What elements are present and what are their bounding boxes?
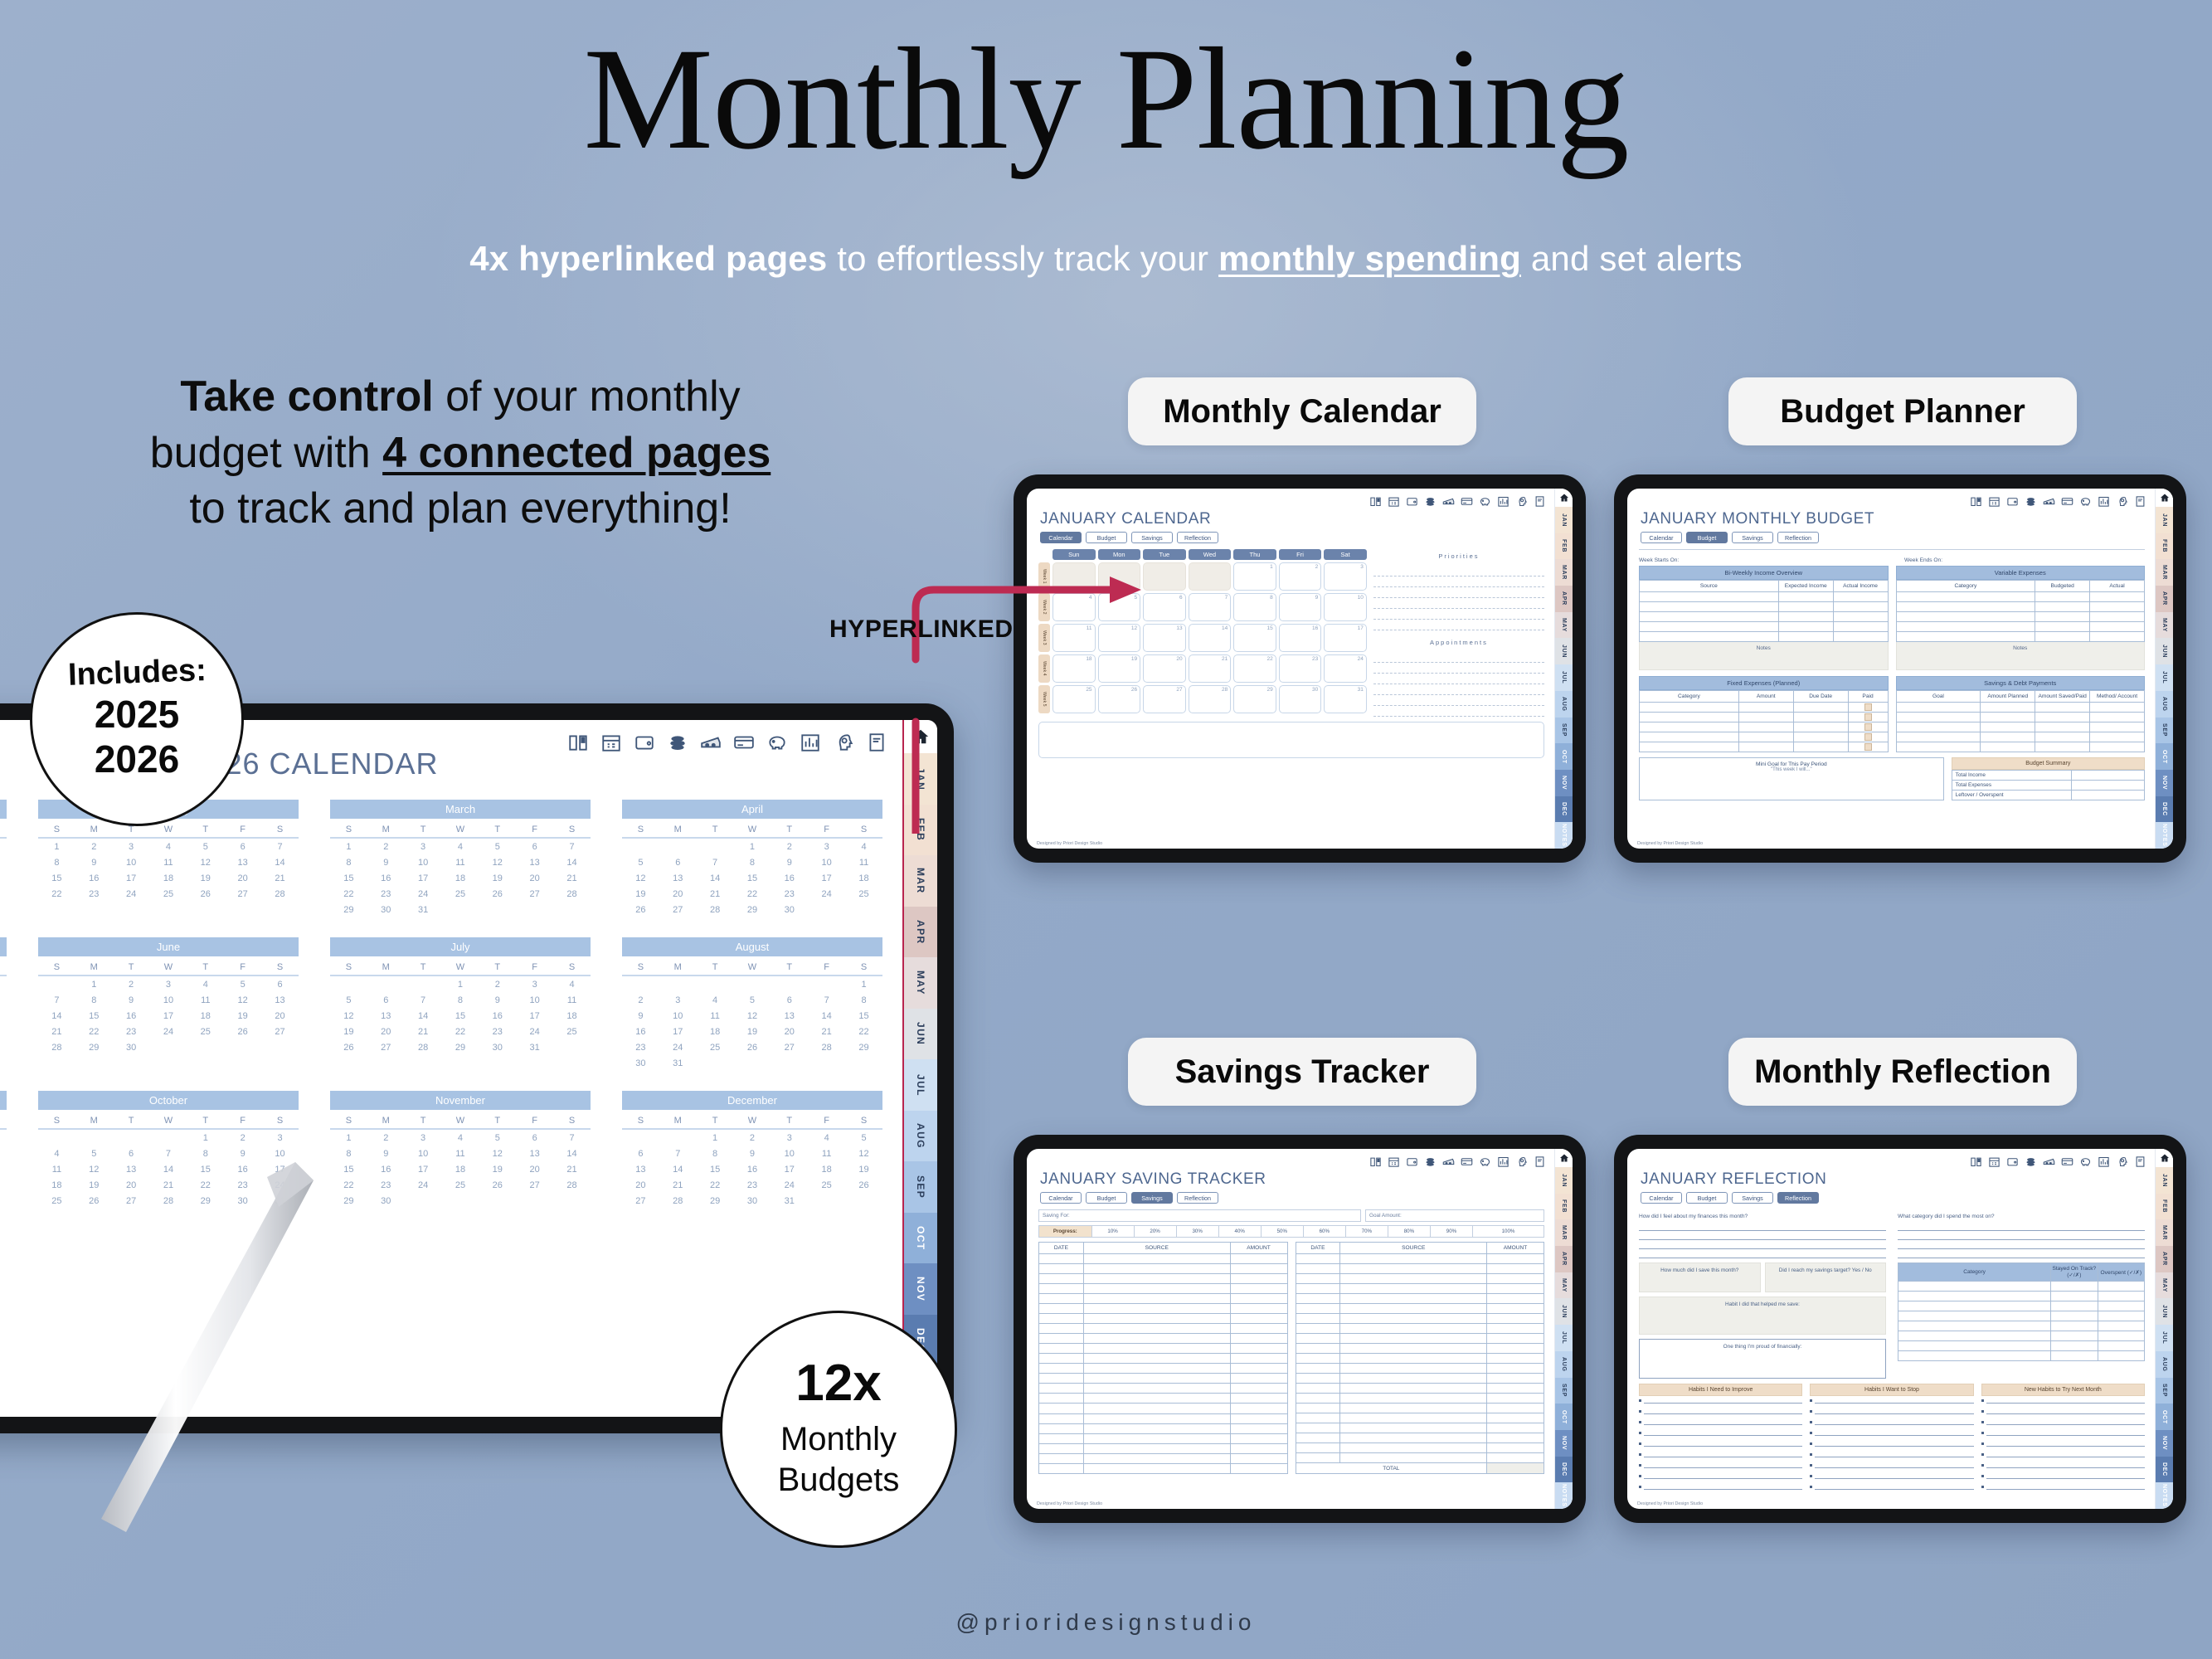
- habit-line[interactable]: [1981, 1428, 2145, 1436]
- table-row[interactable]: [1039, 1384, 1288, 1394]
- month-day[interactable]: 10: [0, 854, 7, 870]
- month-day[interactable]: 22: [330, 1177, 367, 1193]
- calendar-icon[interactable]: [1388, 495, 1400, 508]
- month-tab-oct[interactable]: OCT: [2156, 1404, 2173, 1430]
- month-day[interactable]: 18: [187, 1008, 224, 1024]
- table-row[interactable]: [1296, 1284, 1544, 1294]
- table-cell[interactable]: [1898, 1351, 2051, 1361]
- chart-icon[interactable]: [1497, 495, 1510, 508]
- table-cell[interactable]: [1039, 1264, 1084, 1274]
- table-cell[interactable]: [1340, 1264, 1487, 1274]
- box-savings-target[interactable]: Did I reach my savings target? Yes / No: [1765, 1262, 1887, 1292]
- month-day[interactable]: [367, 975, 405, 992]
- subtab-calendar[interactable]: Calendar: [1040, 1192, 1082, 1204]
- table-row[interactable]: [1296, 1413, 1544, 1423]
- table-cell[interactable]: [1340, 1304, 1487, 1314]
- month-day[interactable]: 28: [405, 1039, 442, 1055]
- table-cell[interactable]: [1738, 732, 1793, 742]
- month-day[interactable]: 28: [261, 886, 299, 902]
- coins-icon[interactable]: [1424, 1155, 1437, 1168]
- month-card-october[interactable]: OctoberSMTWTFS12345678910111213141516171…: [38, 1091, 299, 1209]
- month-day[interactable]: 10: [516, 992, 553, 1008]
- table-row[interactable]: [1296, 1364, 1544, 1374]
- subtab-budget[interactable]: Budget: [1086, 1192, 1127, 1204]
- month-day[interactable]: 1: [75, 975, 113, 992]
- table-cell[interactable]: [1833, 592, 1888, 602]
- table-cell[interactable]: [1083, 1254, 1230, 1264]
- table-cell[interactable]: [1230, 1304, 1287, 1314]
- table-row[interactable]: [1039, 1404, 1288, 1413]
- month-day[interactable]: 12: [330, 1008, 367, 1024]
- habit-line[interactable]: [1981, 1450, 2145, 1457]
- month-day[interactable]: 28: [808, 1039, 845, 1055]
- month-day[interactable]: 8: [734, 854, 771, 870]
- month-day[interactable]: 19: [0, 1161, 7, 1177]
- month-day[interactable]: 23: [0, 1024, 7, 1039]
- table-cell[interactable]: [1296, 1394, 1340, 1404]
- write-line[interactable]: [1898, 1222, 2145, 1231]
- write-line[interactable]: [1373, 587, 1544, 598]
- table-cell[interactable]: [1896, 713, 1981, 722]
- month-tab-jul[interactable]: JUL: [1555, 664, 1573, 691]
- month-day[interactable]: 22: [697, 1177, 734, 1193]
- box-helpful-habit[interactable]: Habit I did that helped me save:: [1639, 1297, 1886, 1335]
- month-tab-aug[interactable]: AUG: [2156, 691, 2173, 718]
- habit-line[interactable]: [1639, 1461, 1802, 1468]
- subtab-budget[interactable]: Budget: [1686, 1192, 1728, 1204]
- month-day[interactable]: 20: [659, 886, 697, 902]
- wallet-icon[interactable]: [2006, 1155, 2019, 1168]
- subtab-budget[interactable]: Budget: [1086, 532, 1127, 543]
- table-cell[interactable]: [2051, 1341, 2098, 1351]
- month-day[interactable]: 23: [771, 886, 808, 902]
- table-cell[interactable]: [2090, 632, 2145, 642]
- month-tab-apr[interactable]: APR: [904, 907, 937, 958]
- month-day[interactable]: 12: [75, 1161, 113, 1177]
- table-cell[interactable]: [1039, 1354, 1084, 1364]
- table-cell[interactable]: [1848, 713, 1888, 722]
- month-day[interactable]: 12: [734, 1008, 771, 1024]
- month-day[interactable]: 22: [330, 886, 367, 902]
- table-row[interactable]: [1296, 1423, 1544, 1433]
- book-icon[interactable]: [1369, 1155, 1382, 1168]
- table-row[interactable]: [1039, 1374, 1288, 1384]
- table-cell[interactable]: [1793, 742, 1848, 752]
- month-day[interactable]: 7: [553, 1129, 591, 1146]
- month-tab-jun[interactable]: JUN: [1555, 1298, 1573, 1325]
- month-day[interactable]: 2: [113, 975, 150, 992]
- habit-line[interactable]: [1981, 1407, 2145, 1414]
- table-cell[interactable]: [1487, 1443, 1544, 1453]
- month-day[interactable]: [442, 1193, 479, 1209]
- habit-line[interactable]: [1810, 1407, 1973, 1414]
- month-day[interactable]: 1: [187, 1129, 224, 1146]
- table-cell[interactable]: [1083, 1394, 1230, 1404]
- table-cell[interactable]: [2090, 622, 2145, 632]
- write-line[interactable]: [1639, 1231, 1886, 1240]
- table-row[interactable]: [1296, 1354, 1544, 1364]
- table-cell[interactable]: [1296, 1413, 1340, 1423]
- table-cell[interactable]: [2090, 732, 2145, 742]
- calendar-icon[interactable]: [1988, 495, 2001, 508]
- month-day[interactable]: 26: [845, 1177, 882, 1193]
- table-row[interactable]: [1039, 1334, 1288, 1344]
- table-cell[interactable]: [1981, 713, 2035, 722]
- month-day[interactable]: 7: [553, 838, 591, 854]
- month-day[interactable]: 31: [0, 902, 7, 917]
- calendar-day-cell[interactable]: 30: [1279, 685, 1322, 713]
- table-cell[interactable]: [1778, 632, 1833, 642]
- table-cell[interactable]: [1296, 1324, 1340, 1334]
- month-day[interactable]: 14: [261, 854, 299, 870]
- month-day[interactable]: 9: [734, 1146, 771, 1161]
- table-cell[interactable]: [1230, 1364, 1287, 1374]
- table-cell[interactable]: [2035, 703, 2090, 713]
- month-day[interactable]: 20: [771, 1024, 808, 1039]
- month-day[interactable]: 5: [622, 854, 659, 870]
- month-day[interactable]: 20: [224, 870, 261, 886]
- month-day[interactable]: 30: [224, 1193, 261, 1209]
- month-tab-notes[interactable]: NOTES: [2156, 1482, 2173, 1509]
- subtab-calendar[interactable]: Calendar: [1040, 532, 1082, 543]
- month-day[interactable]: 18: [697, 1024, 734, 1039]
- month-day[interactable]: 11: [38, 1161, 75, 1177]
- table-row[interactable]: [1296, 1264, 1544, 1274]
- table-cell[interactable]: [1896, 742, 1981, 752]
- month-day[interactable]: 2: [0, 975, 7, 992]
- table-row[interactable]: [1640, 622, 1889, 632]
- month-day[interactable]: 29: [330, 1193, 367, 1209]
- month-day[interactable]: 10: [150, 992, 187, 1008]
- table-cell[interactable]: [1296, 1453, 1340, 1463]
- table-cell[interactable]: [2098, 1311, 2144, 1321]
- chart-icon[interactable]: [800, 732, 821, 753]
- month-day[interactable]: 5: [734, 992, 771, 1008]
- month-tab-feb[interactable]: FEB: [1555, 533, 1573, 560]
- month-day[interactable]: 3: [405, 1129, 442, 1146]
- table-cell[interactable]: [1083, 1404, 1230, 1413]
- month-day[interactable]: 1: [38, 838, 75, 854]
- month-day[interactable]: [622, 975, 659, 992]
- table-row[interactable]: [1039, 1394, 1288, 1404]
- chart-icon[interactable]: [1497, 1155, 1510, 1168]
- table-cell[interactable]: [1083, 1354, 1230, 1364]
- mind-icon[interactable]: [1515, 1155, 1528, 1168]
- table-cell[interactable]: [2051, 1331, 2098, 1341]
- table-cell[interactable]: [1296, 1443, 1340, 1453]
- month-day[interactable]: 13: [516, 854, 553, 870]
- write-line[interactable]: [1373, 684, 1544, 695]
- month-day[interactable]: 16: [113, 1008, 150, 1024]
- table-cell[interactable]: [2090, 602, 2145, 612]
- month-day[interactable]: [75, 1129, 113, 1146]
- month-day[interactable]: 10: [659, 1008, 697, 1024]
- month-day[interactable]: 25: [442, 886, 479, 902]
- table-cell[interactable]: [1230, 1463, 1287, 1473]
- month-day[interactable]: [553, 1193, 591, 1209]
- month-day[interactable]: 26: [734, 1039, 771, 1055]
- table-row[interactable]: [1296, 1324, 1544, 1334]
- calendar-icon[interactable]: [600, 732, 622, 753]
- table-cell[interactable]: [2090, 592, 2145, 602]
- month-day[interactable]: [734, 1055, 771, 1071]
- table-cell[interactable]: [1083, 1453, 1230, 1463]
- month-day[interactable]: [771, 1055, 808, 1071]
- table-row[interactable]: [1039, 1453, 1288, 1463]
- month-day[interactable]: 18: [553, 1008, 591, 1024]
- table-cell[interactable]: [1640, 703, 1739, 713]
- table-cell[interactable]: [2090, 713, 2145, 722]
- table-row[interactable]: [1296, 1314, 1544, 1324]
- mind-icon[interactable]: [1515, 495, 1528, 508]
- progress-step-70%[interactable]: 70%: [1346, 1226, 1388, 1237]
- table-row[interactable]: [1896, 722, 2145, 732]
- table-row[interactable]: [1039, 1344, 1288, 1354]
- table-cell[interactable]: [2035, 602, 2090, 612]
- calendar-day-cell[interactable]: 14: [1189, 624, 1232, 652]
- month-tab-dec[interactable]: DEC: [2156, 796, 2173, 823]
- progress-step-50%[interactable]: 50%: [1262, 1226, 1304, 1237]
- table-row[interactable]: [1296, 1394, 1544, 1404]
- table-row[interactable]: [1039, 1354, 1288, 1364]
- month-day[interactable]: 26: [479, 1177, 516, 1193]
- month-day[interactable]: 5: [479, 838, 516, 854]
- habit-line[interactable]: [1639, 1428, 1802, 1436]
- paid-checkbox[interactable]: [1864, 703, 1872, 711]
- month-tab-apr[interactable]: APR: [1555, 586, 1573, 612]
- table-cell[interactable]: [2090, 742, 2145, 752]
- write-line[interactable]: [1373, 663, 1544, 674]
- month-day[interactable]: 18: [38, 1177, 75, 1193]
- month-day[interactable]: 19: [330, 1024, 367, 1039]
- calendar-day-cell[interactable]: 9: [1279, 593, 1322, 621]
- month-tab-aug[interactable]: AUG: [2156, 1351, 2173, 1378]
- month-day[interactable]: [622, 1129, 659, 1146]
- table-row[interactable]: [1039, 1423, 1288, 1433]
- table-cell[interactable]: [1640, 592, 1779, 602]
- cash-icon[interactable]: [700, 732, 722, 753]
- calendar-day-cell[interactable]: 16: [1279, 624, 1322, 652]
- month-day[interactable]: 15: [330, 1161, 367, 1177]
- month-tab-apr[interactable]: APR: [1555, 1246, 1573, 1272]
- piggy-bank-icon[interactable]: [2079, 1155, 2092, 1168]
- table-cell[interactable]: [1778, 602, 1833, 612]
- month-day[interactable]: [697, 1055, 734, 1071]
- month-day[interactable]: 25: [150, 886, 187, 902]
- month-tab-oct[interactable]: OCT: [1555, 743, 1573, 770]
- month-tab-oct[interactable]: OCT: [2156, 743, 2173, 770]
- table-row[interactable]: [1896, 713, 2145, 722]
- table-cell[interactable]: [1039, 1294, 1084, 1304]
- table-row[interactable]: [1296, 1374, 1544, 1384]
- month-day[interactable]: 3: [0, 838, 7, 854]
- month-day[interactable]: 2: [622, 992, 659, 1008]
- table-cell[interactable]: [1083, 1423, 1230, 1433]
- table-cell[interactable]: [1230, 1384, 1287, 1394]
- month-day[interactable]: [808, 1055, 845, 1071]
- month-day[interactable]: [808, 902, 845, 917]
- month-day[interactable]: 24: [150, 1024, 187, 1039]
- month-day[interactable]: 6: [771, 992, 808, 1008]
- table-cell[interactable]: [1487, 1324, 1544, 1334]
- table-row[interactable]: [1039, 1433, 1288, 1443]
- table-cell[interactable]: [1296, 1384, 1340, 1394]
- month-day[interactable]: 8: [330, 1146, 367, 1161]
- mind-icon[interactable]: [2116, 1155, 2128, 1168]
- month-day[interactable]: 16: [734, 1161, 771, 1177]
- table-cell[interactable]: [2051, 1282, 2098, 1292]
- piggy-bank-icon[interactable]: [766, 732, 788, 753]
- table-cell[interactable]: [1778, 612, 1833, 622]
- table-cell[interactable]: [1039, 1334, 1084, 1344]
- month-day[interactable]: 27: [771, 1039, 808, 1055]
- table-cell[interactable]: [1296, 1254, 1340, 1264]
- month-day[interactable]: 3: [150, 975, 187, 992]
- month-day[interactable]: [622, 838, 659, 854]
- subtab-savings[interactable]: Savings: [1732, 532, 1773, 543]
- table-row[interactable]: [1898, 1282, 2145, 1292]
- table-cell[interactable]: [1487, 1344, 1544, 1354]
- calendar-day-cell[interactable]: 21: [1189, 654, 1232, 683]
- table-cell[interactable]: [2090, 722, 2145, 732]
- cash-icon[interactable]: [1442, 1155, 1455, 1168]
- subtab-reflection[interactable]: Reflection: [1177, 1192, 1218, 1204]
- piggy-bank-icon[interactable]: [2079, 495, 2092, 508]
- table-row[interactable]: [1896, 622, 2145, 632]
- month-tab-may[interactable]: MAY: [904, 957, 937, 1009]
- table-cell[interactable]: [1230, 1284, 1287, 1294]
- income-notes[interactable]: Notes: [1639, 642, 1889, 670]
- month-day[interactable]: 29: [734, 902, 771, 917]
- month-day[interactable]: 3: [113, 838, 150, 854]
- table-cell[interactable]: [1898, 1292, 2051, 1301]
- month-day[interactable]: 3: [808, 838, 845, 854]
- month-day[interactable]: 10: [808, 854, 845, 870]
- month-day[interactable]: 29: [75, 1039, 113, 1055]
- month-day[interactable]: 14: [553, 854, 591, 870]
- month-day[interactable]: 9: [367, 854, 405, 870]
- month-day[interactable]: 18: [150, 870, 187, 886]
- table-cell[interactable]: [1738, 722, 1793, 732]
- month-day[interactable]: 8: [442, 992, 479, 1008]
- box-proud-of[interactable]: One thing I'm proud of financially:: [1639, 1339, 1886, 1379]
- month-day[interactable]: 31: [771, 1193, 808, 1209]
- month-day[interactable]: 30: [771, 902, 808, 917]
- table-cell[interactable]: [1230, 1404, 1287, 1413]
- coins-icon[interactable]: [2025, 495, 2037, 508]
- month-day[interactable]: 12: [845, 1146, 882, 1161]
- table-cell[interactable]: [1296, 1374, 1340, 1384]
- table-cell[interactable]: [1340, 1294, 1487, 1304]
- progress-step-80%[interactable]: 80%: [1388, 1226, 1431, 1237]
- month-day[interactable]: 21: [697, 886, 734, 902]
- wallet-icon[interactable]: [1406, 495, 1418, 508]
- write-line[interactable]: [1373, 609, 1544, 620]
- progress-step-30%[interactable]: 30%: [1177, 1226, 1219, 1237]
- table-cell[interactable]: [2051, 1321, 2098, 1331]
- month-day[interactable]: 26: [75, 1193, 113, 1209]
- table-cell[interactable]: [1898, 1321, 2051, 1331]
- calendar-day-cell[interactable]: 15: [1233, 624, 1276, 652]
- month-day[interactable]: 27: [622, 1193, 659, 1209]
- table-cell[interactable]: [2098, 1282, 2144, 1292]
- table-cell[interactable]: [1340, 1364, 1487, 1374]
- page-toolbar[interactable]: [1369, 495, 1546, 508]
- month-tab-nov[interactable]: NOV: [1555, 770, 1573, 796]
- month-day[interactable]: 9: [224, 1146, 261, 1161]
- table-row[interactable]: [1296, 1254, 1544, 1264]
- summary-value[interactable]: [2071, 771, 2144, 781]
- habit-line[interactable]: [1639, 1439, 1802, 1447]
- table-row[interactable]: [1640, 612, 1889, 622]
- month-day[interactable]: 11: [442, 854, 479, 870]
- month-day[interactable]: 15: [75, 1008, 113, 1024]
- table-cell[interactable]: [1487, 1314, 1544, 1324]
- month-day[interactable]: 17: [113, 870, 150, 886]
- table-cell[interactable]: [1083, 1314, 1230, 1324]
- month-day[interactable]: 16: [367, 870, 405, 886]
- table-cell[interactable]: [2051, 1301, 2098, 1311]
- month-tab-jul[interactable]: JUL: [2156, 664, 2173, 691]
- habit-line[interactable]: [1639, 1407, 1802, 1414]
- month-day[interactable]: 18: [808, 1161, 845, 1177]
- book-icon[interactable]: [1369, 495, 1382, 508]
- card-icon[interactable]: [733, 732, 755, 753]
- month-day[interactable]: 15: [330, 870, 367, 886]
- month-day[interactable]: 3: [771, 1129, 808, 1146]
- calendar-day-cell[interactable]: 10: [1324, 593, 1367, 621]
- table-cell[interactable]: [1898, 1301, 2051, 1311]
- write-line[interactable]: [1373, 695, 1544, 706]
- table-cell[interactable]: [1487, 1423, 1544, 1433]
- table-cell[interactable]: [1793, 703, 1848, 713]
- month-day[interactable]: 24: [113, 886, 150, 902]
- card-icon[interactable]: [1461, 1155, 1473, 1168]
- month-day[interactable]: 4: [553, 975, 591, 992]
- table-row[interactable]: [1039, 1314, 1288, 1324]
- table-row[interactable]: [1640, 602, 1889, 612]
- month-card-july[interactable]: JulySMTWTFS12345678910111213141516171819…: [330, 937, 591, 1071]
- progress-step-40%[interactable]: 40%: [1219, 1226, 1262, 1237]
- wallet-icon[interactable]: [1406, 1155, 1418, 1168]
- table-cell[interactable]: [1296, 1284, 1340, 1294]
- habit-line[interactable]: [1639, 1396, 1802, 1404]
- month-day[interactable]: 5: [0, 1129, 7, 1146]
- table-cell[interactable]: [1083, 1284, 1230, 1294]
- month-day[interactable]: 19: [75, 1177, 113, 1193]
- table-cell[interactable]: [1487, 1354, 1544, 1364]
- table-cell[interactable]: [1296, 1314, 1340, 1324]
- month-day[interactable]: 18: [442, 870, 479, 886]
- month-day[interactable]: [553, 902, 591, 917]
- month-day[interactable]: 24: [405, 1177, 442, 1193]
- table-cell[interactable]: [1640, 742, 1739, 752]
- table-cell[interactable]: [1083, 1364, 1230, 1374]
- month-day[interactable]: 17: [150, 1008, 187, 1024]
- month-tab-jan[interactable]: JAN: [2156, 507, 2173, 533]
- table-cell[interactable]: [1487, 1334, 1544, 1344]
- month-day[interactable]: 22: [75, 1024, 113, 1039]
- table-cell[interactable]: [1230, 1433, 1287, 1443]
- month-day[interactable]: 9: [113, 992, 150, 1008]
- month-tab-mar[interactable]: MAR: [1555, 1219, 1573, 1246]
- month-tab-jan[interactable]: JAN: [1555, 507, 1573, 533]
- table-cell[interactable]: [1296, 1274, 1340, 1284]
- month-day[interactable]: 18: [845, 870, 882, 886]
- table-cell[interactable]: [1848, 732, 1888, 742]
- calendar-icon[interactable]: [1988, 1155, 2001, 1168]
- table-cell[interactable]: [1230, 1324, 1287, 1334]
